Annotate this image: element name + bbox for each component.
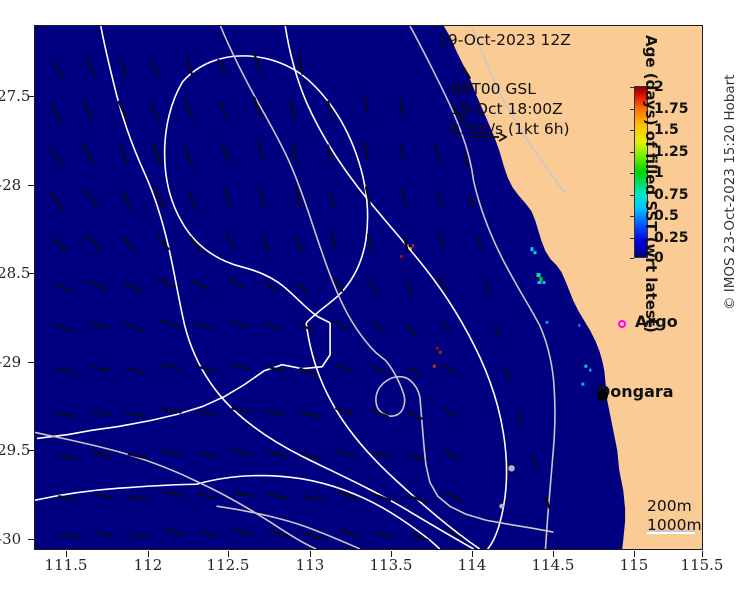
depth-legend-row-200m: 200m xyxy=(647,496,702,515)
depth-200m-label: 200m xyxy=(647,497,692,515)
xtick-label: 112 xyxy=(134,556,163,574)
xtick-label: 111.5 xyxy=(45,556,88,574)
colorbar-tick xyxy=(630,216,634,217)
xtick-label: 113.5 xyxy=(370,556,413,574)
depth-200m-swatch xyxy=(647,530,695,532)
copyright-credit: © IMOS 23-Oct-2023 15:20 Hobart xyxy=(722,75,738,311)
map-figure: 19-Oct-2023 12Z NRT00 GSL 19-Oct 18:00Z … xyxy=(0,0,740,592)
dongara-marker[interactable] xyxy=(597,390,608,401)
source-model-label: NRT00 GSL xyxy=(450,79,570,99)
argo-marker[interactable] xyxy=(618,320,626,328)
colorbar-tick xyxy=(630,195,634,196)
ytick-label: -27.5 xyxy=(0,87,30,105)
map-plot-area[interactable]: 19-Oct-2023 12Z NRT00 GSL 19-Oct 18:00Z … xyxy=(34,25,703,550)
colorbar-tick xyxy=(630,109,634,110)
colorbar-tick xyxy=(630,238,634,239)
xtick-label: 113 xyxy=(296,556,325,574)
date-stamp: 19-Oct-2023 12Z xyxy=(438,31,571,49)
source-time-label: 19-Oct 18:00Z xyxy=(450,99,570,119)
ytick-label: -30 xyxy=(0,530,21,548)
xtick-label: 115.5 xyxy=(681,556,724,574)
xtick-label: 115 xyxy=(620,556,649,574)
ytick-label: -29 xyxy=(0,353,21,371)
ytick-mark xyxy=(28,362,34,363)
colorbar-tick xyxy=(630,152,634,153)
ytick-mark xyxy=(28,185,34,186)
depth-legend-row-swatch-200m xyxy=(647,534,702,550)
colorbar-tick xyxy=(630,130,634,131)
observation-dots xyxy=(35,26,702,549)
colorbar-tick xyxy=(630,87,634,88)
colorbar-tick xyxy=(630,258,634,259)
colorbar-title: Age (days) of filled SST (wrt latest) xyxy=(642,35,660,315)
ytick-label: -28.5 xyxy=(0,264,30,282)
xtick-label: 112.5 xyxy=(207,556,250,574)
colorbar-tick xyxy=(630,173,634,174)
ytick-mark xyxy=(28,539,34,540)
xtick-label: 114.5 xyxy=(532,556,575,574)
ytick-label: -28 xyxy=(0,176,21,194)
dongara-label: Dongara xyxy=(597,382,674,401)
ytick-label: -29.5 xyxy=(0,441,30,459)
reference-vector-arrow xyxy=(467,129,507,148)
xtick-label: 114 xyxy=(458,556,487,574)
depth-legend: 200m 1000m xyxy=(647,496,702,550)
